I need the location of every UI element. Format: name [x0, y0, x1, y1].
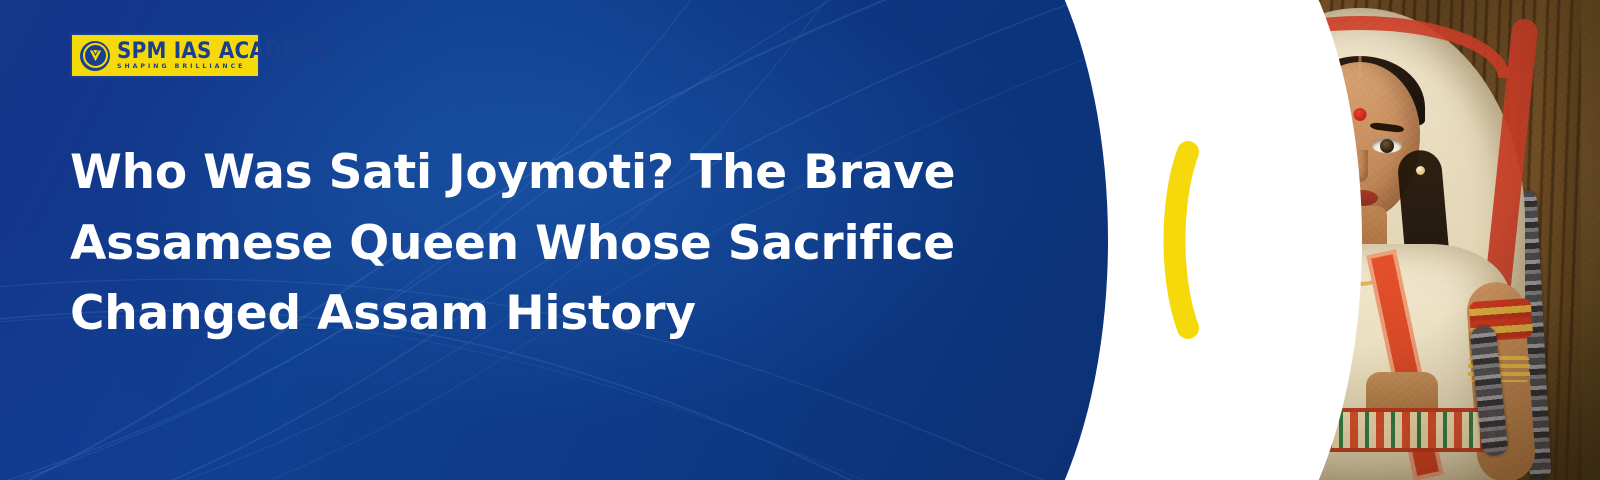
eye-right [1372, 138, 1402, 153]
spm-monogram-icon [80, 41, 110, 71]
logo-tagline: SHAPING BRILLIANCE [117, 64, 331, 70]
hero-banner: SPM IAS ACADEMY SHAPING BRILLIANCE Who W… [0, 0, 1600, 480]
logo-text: SPM IAS ACADEMY SHAPING BRILLIANCE [117, 40, 331, 70]
logo-spm-ias-academy[interactable]: SPM IAS ACADEMY SHAPING BRILLIANCE [70, 33, 260, 78]
iris-right [1380, 139, 1394, 153]
headline-line-3: Changed Assam History [70, 279, 1060, 350]
earring-right-icon [1416, 166, 1425, 175]
logo-title: SPM IAS ACADEMY [117, 39, 331, 61]
page-title: Who Was Sati Joymoti? The Brave Assamese… [70, 138, 1060, 350]
headline-line-2: Assamese Queen Whose Sacrifice [70, 209, 1060, 280]
bindi-icon [1354, 108, 1367, 121]
yellow-arc-icon [1158, 140, 1202, 340]
hair-parting [1359, 56, 1362, 78]
headline-line-1: Who Was Sati Joymoti? The Brave [70, 138, 1060, 209]
